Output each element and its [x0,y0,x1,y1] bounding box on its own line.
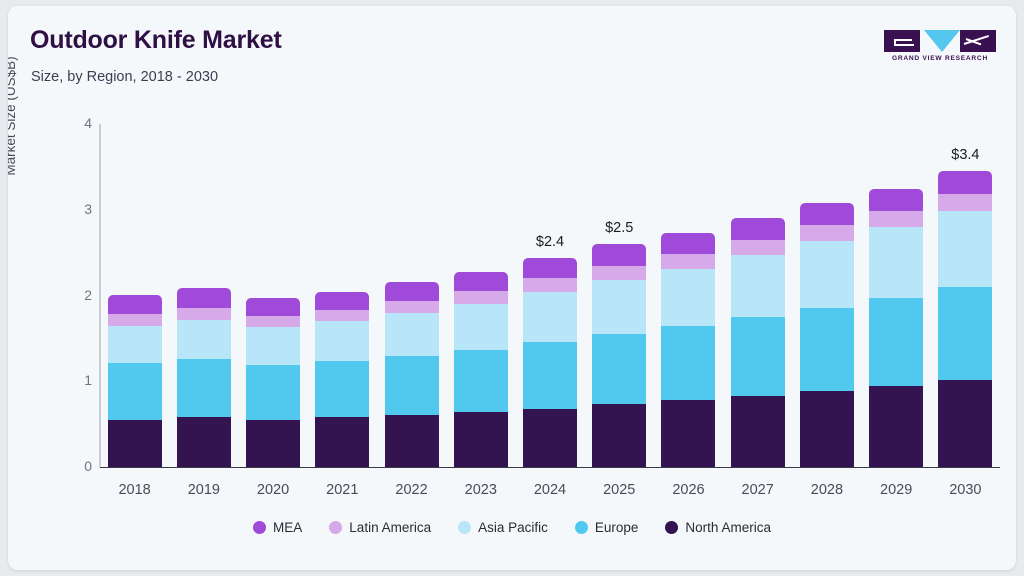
bar-segment[interactable] [454,349,508,413]
y-axis-tick: 3 [58,201,92,217]
bar-group[interactable] [385,282,439,467]
bar-segment[interactable] [523,408,577,467]
bar-group[interactable]: $3.4 [938,171,992,467]
bar-segment[interactable] [661,268,715,326]
bar-segment[interactable] [661,325,715,400]
legend-item[interactable]: Latin America [329,520,431,535]
bar-group[interactable] [108,295,162,467]
page-title: Outdoor Knife Market [30,26,282,55]
bar-segment[interactable] [800,390,854,467]
grand-view-research-logo: GRAND VIEW RESEARCH [884,30,996,66]
bar-group[interactable] [869,189,923,467]
legend-item[interactable]: Asia Pacific [458,520,548,535]
bar-segment[interactable] [661,233,715,254]
bar-group[interactable] [315,292,369,467]
bar-segment[interactable] [177,358,231,417]
bar-segment[interactable] [523,258,577,279]
bar-segment[interactable] [869,297,923,385]
bar-segment[interactable] [938,286,992,380]
bar-segment[interactable] [800,203,854,225]
bar-segment[interactable] [731,239,785,255]
logo-wordmark: GRAND VIEW RESEARCH [884,55,996,62]
bar-segment[interactable] [454,303,508,349]
legend-label: Asia Pacific [478,520,548,535]
bar-group[interactable] [246,298,300,467]
bar-segment[interactable] [315,360,369,418]
bar-segment[interactable] [523,341,577,409]
bar-segment[interactable] [731,395,785,467]
bar-segment[interactable] [592,279,646,334]
bar-segment[interactable] [385,414,439,467]
bar-segment[interactable] [177,307,231,319]
chart-card: Outdoor Knife Market Size, by Region, 20… [8,6,1016,570]
bar-segment[interactable] [246,315,300,327]
bar-segment[interactable] [385,312,439,356]
y-axis-tick: 1 [58,372,92,388]
bar-segment[interactable] [869,210,923,226]
logo-marks [884,30,996,52]
bar-segment[interactable] [315,292,369,310]
plot-area: $2.4$2.5$3.4 [100,124,1000,467]
bar-segment[interactable] [938,210,992,287]
bar-segment[interactable] [592,265,646,281]
bar-segment[interactable] [800,307,854,391]
bar-group[interactable]: $2.5 [592,244,646,467]
bar-segment[interactable] [108,362,162,420]
bar-segment[interactable] [454,272,508,292]
bar-segment[interactable] [454,411,508,467]
bar-segment[interactable] [108,419,162,467]
bar-segment[interactable] [177,288,231,309]
bar-segment[interactable] [385,300,439,313]
legend-label: Europe [595,520,639,535]
bar-segment[interactable] [246,326,300,365]
legend-label: MEA [273,520,302,535]
bar-segment[interactable] [938,193,992,210]
bar-segment[interactable] [315,309,369,321]
bar-group[interactable] [800,203,854,467]
bar-segment[interactable] [592,333,646,404]
bar-segment[interactable] [246,364,300,420]
bar-group[interactable] [661,233,715,467]
bar-segment[interactable] [385,355,439,415]
bar-group[interactable] [177,288,231,467]
bar-segment[interactable] [315,416,369,467]
bar-segment[interactable] [108,295,162,315]
bar-segment[interactable] [177,319,231,359]
bar-segment[interactable] [108,313,162,325]
legend-label: North America [685,520,771,535]
legend-swatch-icon [575,521,588,534]
x-axis-tick: 2030 [905,482,1016,498]
bar-segment[interactable] [592,244,646,265]
bar-segment[interactable] [869,226,923,298]
bar-segment[interactable] [869,189,923,211]
legend-item[interactable]: Europe [575,520,639,535]
legend-swatch-icon [253,521,266,534]
bar-group[interactable]: $2.4 [523,258,577,467]
bar-segment[interactable] [731,218,785,239]
logo-block-right-icon [960,30,996,52]
bar-segment[interactable] [938,171,992,194]
bar-segment[interactable] [731,316,785,396]
bar-segment[interactable] [523,291,577,342]
legend-swatch-icon [329,521,342,534]
bar-segment[interactable] [108,325,162,364]
chart-legend: MEALatin AmericaAsia PacificEuropeNorth … [8,520,1016,535]
bar-segment[interactable] [454,290,508,304]
bar-segment[interactable] [731,254,785,317]
bar-segment[interactable] [592,403,646,467]
bar-segment[interactable] [246,298,300,316]
y-axis-label: Market Size (US$B) [8,6,18,236]
page-subtitle: Size, by Region, 2018 - 2030 [31,69,218,85]
legend-item[interactable]: MEA [253,520,302,535]
bar-segment[interactable] [246,419,300,467]
bar-value-label: $3.4 [905,147,1016,163]
bar-segment[interactable] [661,253,715,269]
bar-segment[interactable] [523,277,577,292]
bar-segment[interactable] [315,320,369,360]
bar-segment[interactable] [385,282,439,301]
legend-item[interactable]: North America [665,520,771,535]
legend-swatch-icon [458,521,471,534]
bar-group[interactable] [454,272,508,468]
y-axis-tick: 4 [58,115,92,131]
bar-segment[interactable] [938,379,992,467]
legend-label: Latin America [349,520,431,535]
logo-g-bar-icon [894,39,912,41]
logo-triangle-icon [924,30,960,52]
y-axis-tick: 2 [58,287,92,303]
bar-segment[interactable] [661,399,715,467]
y-axis-tick: 0 [58,458,92,474]
bar-segment[interactable] [800,240,854,308]
legend-swatch-icon [665,521,678,534]
logo-g-foot-icon [894,44,914,46]
bar-group[interactable] [731,218,785,467]
logo-block-left-icon [884,30,920,52]
bar-segment[interactable] [177,416,231,467]
bar-segment[interactable] [869,385,923,467]
bar-segment[interactable] [800,224,854,240]
